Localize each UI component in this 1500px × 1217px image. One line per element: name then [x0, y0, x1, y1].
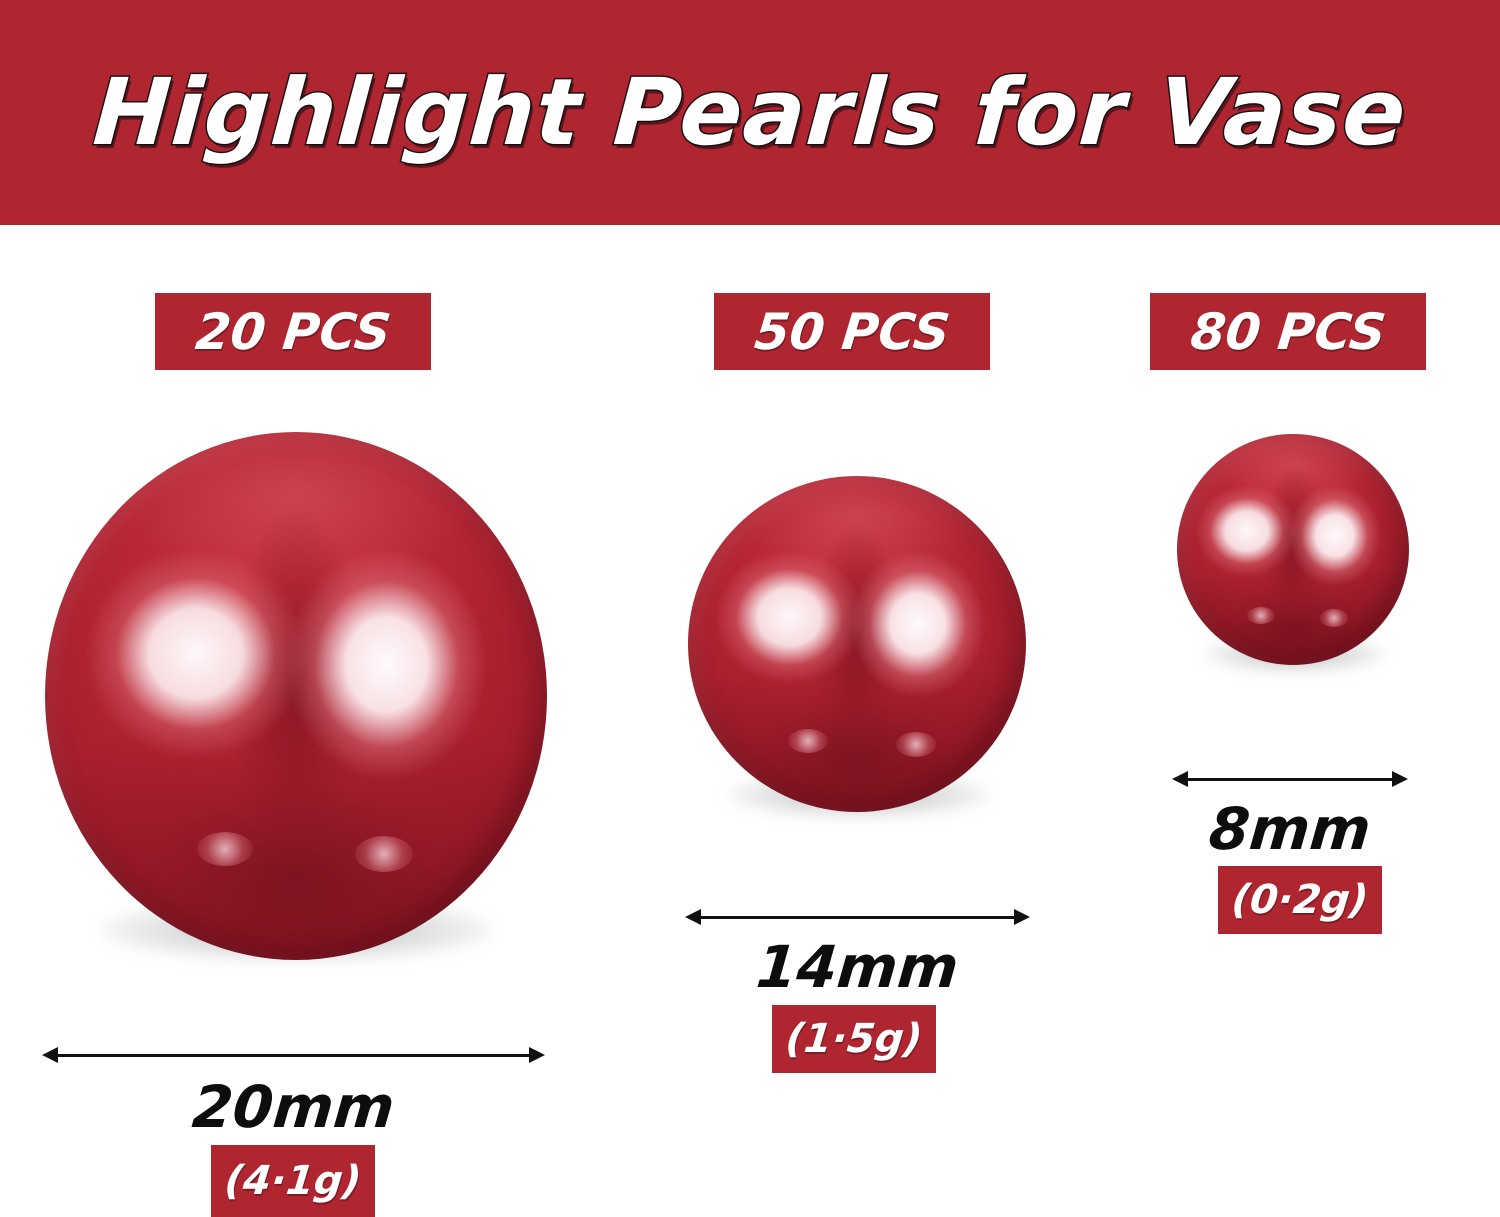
count-badge-label: 50 PCS: [752, 303, 953, 361]
pearl-microhighlight-left: [788, 729, 828, 753]
pearl-sphere: [45, 432, 547, 960]
weight-badge-label: (0·2g): [1230, 877, 1371, 923]
pearl-medium: [688, 476, 1026, 814]
diameter-label-8mm: 8mm: [1169, 795, 1411, 863]
arrow-head-right-icon: [529, 1047, 545, 1063]
dimension-arrow-20mm: [42, 1044, 545, 1066]
weight-badge-20mm: (4·1g): [211, 1145, 375, 1217]
weight-badge-label: (1·5g): [784, 1016, 925, 1062]
weight-badge-label: (4·1g): [223, 1158, 364, 1204]
product-infographic: Highlight Pearls for Vase 20 PCS 20mm (4…: [0, 0, 1500, 1217]
count-badge-80pcs: 80 PCS: [1150, 293, 1426, 370]
weight-badge-14mm: (1·5g): [772, 1005, 936, 1073]
count-badge-label: 80 PCS: [1188, 303, 1389, 361]
page-title: Highlight Pearls for Vase: [0, 0, 1500, 225]
pearl-sphere: [1177, 434, 1409, 665]
pearl-large: [45, 432, 547, 962]
pearl-microhighlight-left: [1247, 607, 1275, 624]
pearl-microhighlight-right: [1320, 609, 1348, 627]
pearl-small: [1177, 434, 1409, 666]
count-badge-label: 20 PCS: [193, 303, 394, 361]
header-banner: Highlight Pearls for Vase: [0, 0, 1500, 225]
dimension-arrow-8mm: [1172, 768, 1408, 790]
count-badge-20pcs: 20 PCS: [155, 293, 431, 370]
pearl-microhighlight-left: [197, 832, 253, 866]
diameter-label-20mm: 20mm: [39, 1073, 548, 1141]
arrow-line: [1181, 778, 1399, 781]
arrow-line: [51, 1054, 536, 1057]
dimension-arrow-14mm: [685, 906, 1030, 928]
pearl-microhighlight-right: [355, 836, 413, 872]
arrow-head-right-icon: [1014, 909, 1030, 925]
arrow-line: [694, 916, 1021, 919]
weight-badge-8mm: (0·2g): [1218, 866, 1382, 934]
diameter-label-14mm: 14mm: [682, 933, 1033, 1001]
pearl-microhighlight-right: [896, 732, 936, 757]
arrow-head-right-icon: [1392, 771, 1408, 787]
pearl-sphere: [688, 476, 1026, 812]
count-badge-50pcs: 50 PCS: [714, 293, 990, 370]
